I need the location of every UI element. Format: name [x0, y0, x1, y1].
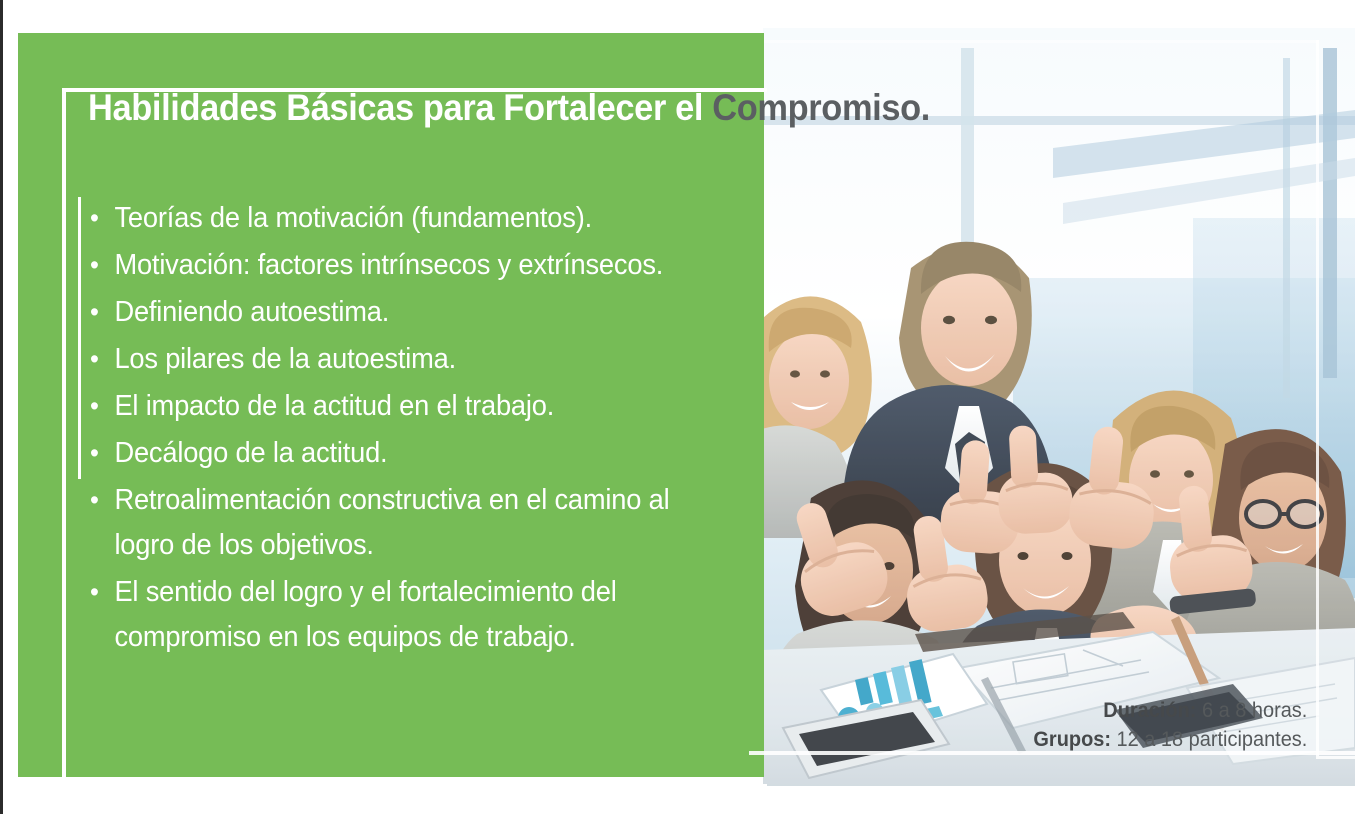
list-item: El impacto de la actitud en el trabajo. — [90, 384, 692, 429]
list-item: El sentido del logro y el fortalecimient… — [90, 570, 692, 660]
duration-label: Duración: — [1103, 699, 1196, 722]
list-item: Los pilares de la autoestima. — [90, 337, 692, 382]
groups-value: 12 a 18 participantes. — [1116, 728, 1307, 751]
list-item: Teorías de la motivación (fundamentos). — [90, 196, 692, 241]
page-title: Habilidades Básicas para Fortalecer el C… — [88, 86, 1185, 130]
page-edge-strip — [0, 0, 3, 814]
list-item: Definiendo autoestima. — [90, 290, 692, 335]
list-item: Retroalimentación constructiva en el cam… — [90, 478, 692, 568]
groups-label: Grupos: — [1033, 728, 1111, 751]
course-info: Duración: 6 a 8 horas. Grupos: 12 a 18 p… — [1019, 696, 1307, 754]
groups-line: Grupos: 12 a 18 participantes. — [1033, 725, 1307, 754]
team-photo — [763, 28, 1355, 786]
duration-value: 6 a 8 horas. — [1202, 699, 1307, 722]
list-item: Decálogo de la actitud. — [90, 431, 692, 476]
accent-vertical-rule — [78, 197, 81, 479]
topics-list: Teorías de la motivación (fundamentos). … — [90, 196, 730, 662]
duration-line: Duración: 6 a 8 horas. — [1033, 696, 1307, 725]
slide-root: Duración: 6 a 8 horas. Grupos: 12 a 18 p… — [0, 0, 1355, 814]
list-item: Motivación: factores intrínsecos y extrí… — [90, 243, 692, 288]
team-photo-illustration — [763, 28, 1355, 786]
